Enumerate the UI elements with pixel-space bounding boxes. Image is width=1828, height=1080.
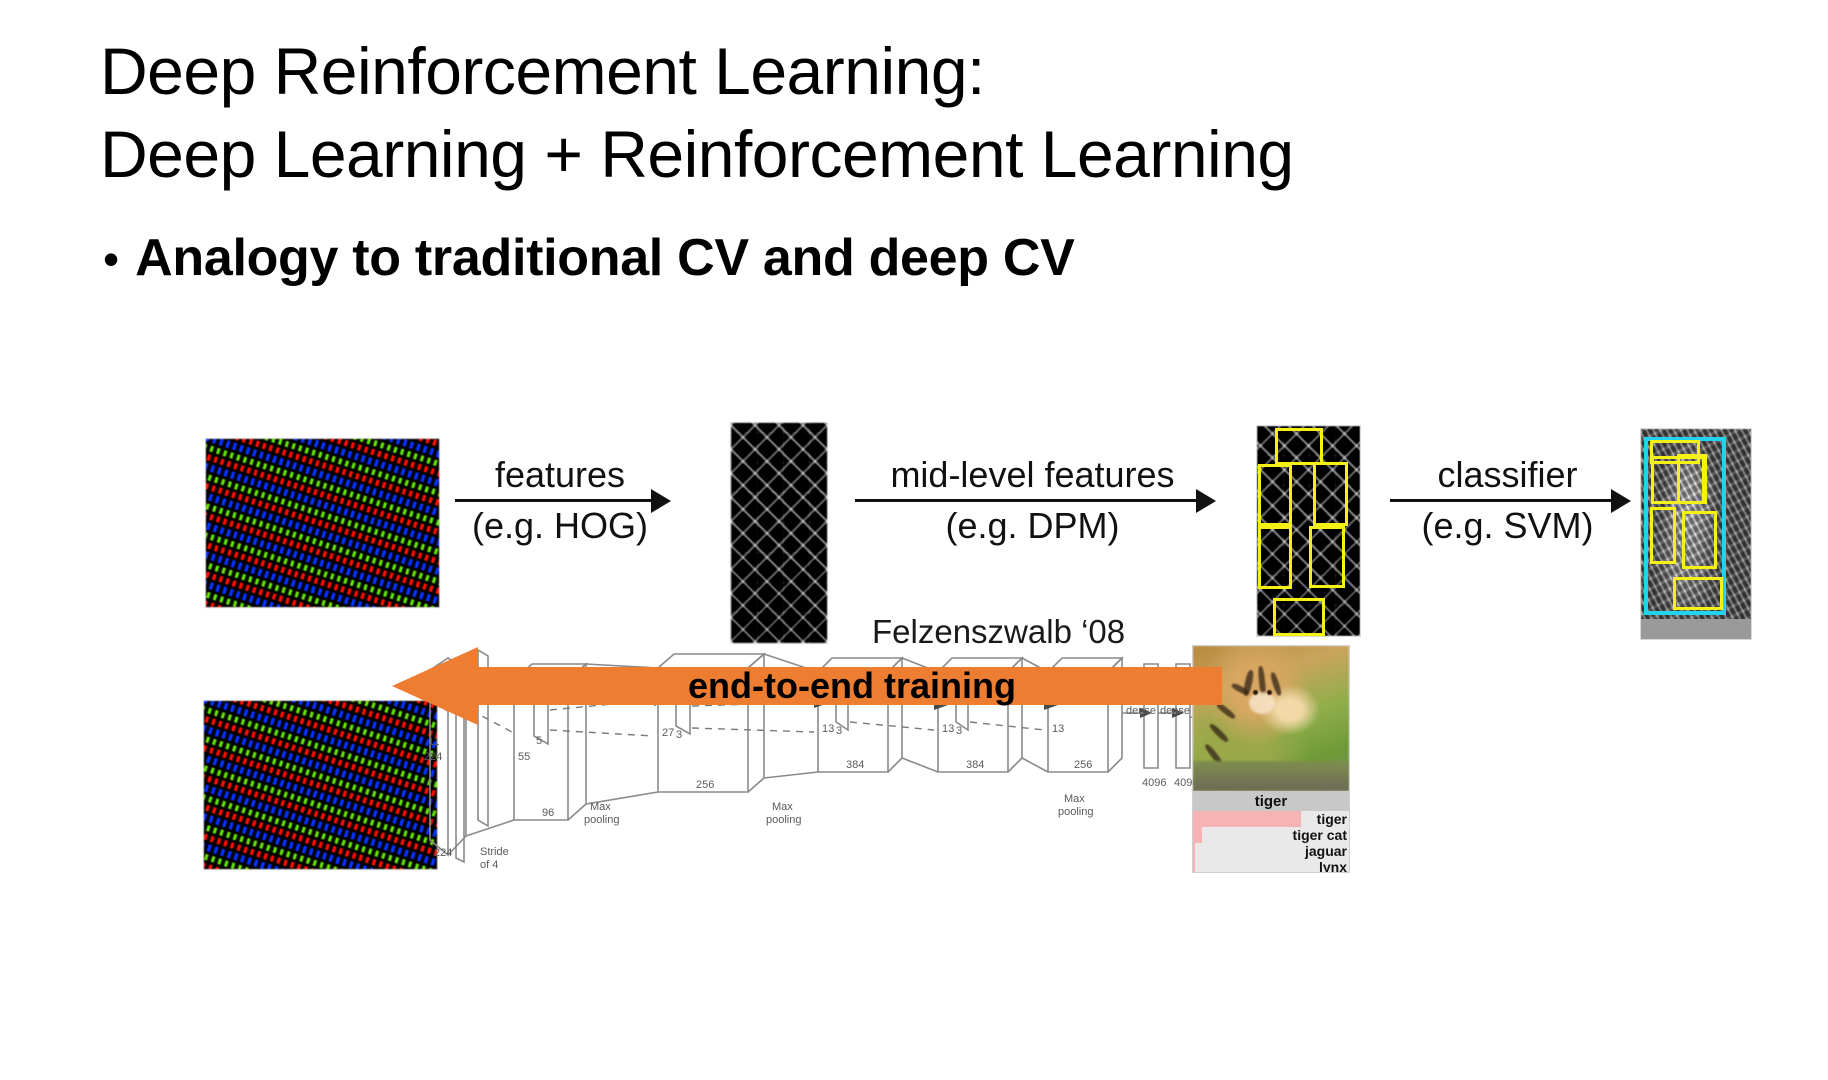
detection-result-image <box>1640 428 1752 640</box>
dpm-box-torso-right <box>1313 462 1348 526</box>
svg-text:384: 384 <box>966 759 984 771</box>
bullet-marker-icon: • <box>103 236 119 282</box>
prediction-bar <box>1193 811 1301 827</box>
detection-part-hip <box>1682 511 1717 569</box>
arrow-label-midlevel: mid-level features (e.g. DPM) <box>855 455 1210 547</box>
arrow-head-icon <box>651 489 671 513</box>
svg-text:4096: 4096 <box>1142 777 1166 789</box>
svg-text:224: 224 <box>434 847 452 859</box>
dpm-box-leg-left <box>1258 526 1292 589</box>
prediction-label: tiger cat <box>1202 827 1349 843</box>
svg-text:224: 224 <box>424 751 442 763</box>
detection-part-arm <box>1677 454 1707 504</box>
prediction-bar <box>1193 827 1202 843</box>
prediction-row: lynx <box>1193 859 1349 873</box>
svg-text:Max: Max <box>772 801 793 813</box>
prediction-label: tiger <box>1301 811 1349 827</box>
arrow-label-classifier: classifier (e.g. SVM) <box>1390 455 1625 547</box>
svg-text:384: 384 <box>846 759 864 771</box>
traditional-input-image <box>205 438 440 608</box>
arrow-shaft <box>1390 499 1625 502</box>
end-to-end-training-arrow <box>392 647 1222 725</box>
prediction-row: tiger cat <box>1193 827 1349 843</box>
svg-text:Max: Max <box>1064 793 1085 805</box>
result-image-caption: tiger <box>1193 791 1349 811</box>
dpm-box-torso-left <box>1258 464 1292 526</box>
slide-canvas: Deep Reinforcement Learning: Deep Learni… <box>0 0 1828 1080</box>
svg-text:of 4: of 4 <box>480 859 498 871</box>
svg-text:256: 256 <box>1074 759 1092 771</box>
svg-text:pooling: pooling <box>766 814 801 826</box>
arrow-shaft <box>455 499 665 502</box>
svg-text:27: 27 <box>662 727 674 739</box>
dpm-part-model-image <box>1256 425 1361 637</box>
svg-text:3: 3 <box>676 729 682 741</box>
svg-text:5: 5 <box>536 735 542 747</box>
arrow-shaft <box>855 499 1210 502</box>
arrow-head-icon <box>1196 489 1216 513</box>
svg-text:Stride: Stride <box>480 846 509 858</box>
arrow-label-features: features (e.g. HOG) <box>455 455 665 547</box>
svg-text:3: 3 <box>956 725 962 737</box>
bullet-item: • Analogy to traditional CV and deep CV <box>103 232 1075 284</box>
arrow-label-features-top: features <box>455 455 665 495</box>
prediction-label: lynx <box>1195 859 1349 873</box>
detection-part-torso <box>1650 507 1676 564</box>
svg-text:pooling: pooling <box>1058 806 1093 818</box>
prediction-label: jaguar <box>1195 843 1349 859</box>
svg-text:Max: Max <box>590 801 611 813</box>
hog-feature-image <box>730 422 828 644</box>
page-title: Deep Reinforcement Learning: Deep Learni… <box>100 30 1750 195</box>
svg-text:96: 96 <box>542 807 554 819</box>
svg-text:256: 256 <box>696 779 714 791</box>
arrow-label-midlevel-bottom: (e.g. DPM) <box>855 506 1210 546</box>
title-line-1: Deep Reinforcement Learning: <box>100 30 1750 113</box>
dpm-box-feet <box>1273 598 1325 636</box>
svg-text:3: 3 <box>836 725 842 737</box>
detection-part-legs <box>1673 577 1723 610</box>
prediction-row: jaguar <box>1193 843 1349 859</box>
title-line-2: Deep Learning + Reinforcement Learning <box>100 113 1750 196</box>
dpm-box-head <box>1275 428 1323 465</box>
svg-text:pooling: pooling <box>584 814 619 826</box>
arrow-label-features-bottom: (e.g. HOG) <box>455 506 665 546</box>
bullet-item-label: Analogy to traditional CV and deep CV <box>135 232 1074 284</box>
arrow-label-midlevel-top: mid-level features <box>855 455 1210 495</box>
cnn-label-11: 11 <box>428 736 439 748</box>
arrow-head-icon <box>1611 489 1631 513</box>
prediction-row: tiger <box>1193 811 1349 827</box>
arrow-label-classifier-bottom: (e.g. SVM) <box>1390 506 1625 546</box>
dpm-box-leg-right <box>1309 526 1345 588</box>
deep-input-image <box>203 700 438 870</box>
arrow-label-classifier-top: classifier <box>1390 455 1625 495</box>
svg-text:55: 55 <box>518 751 530 763</box>
